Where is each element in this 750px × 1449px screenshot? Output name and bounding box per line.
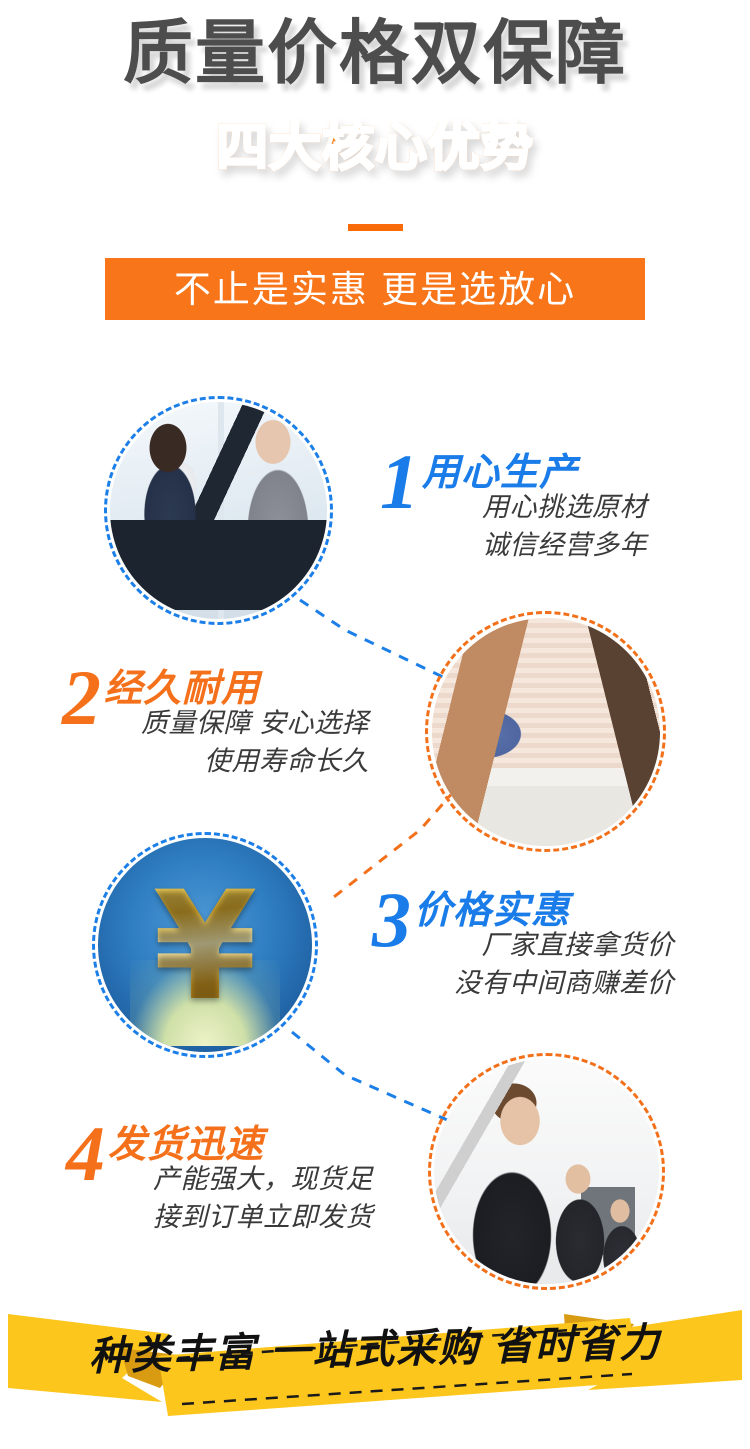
feature-3-line-2: 没有中间商赚差价 <box>426 964 674 1002</box>
feature-4-title: 发货迅速 <box>108 1126 264 1164</box>
feature-1-title: 用心生产 <box>422 454 578 492</box>
feature-1-number: 1 <box>380 450 416 514</box>
feature-3-ring <box>92 832 318 1058</box>
tagline-banner: 不止是实惠 更是选放心 <box>105 258 645 320</box>
page-title: 质量价格双保障 <box>0 18 750 88</box>
feature-1-line-2: 诚信经营多年 <box>432 526 647 564</box>
feature-1-lines: 用心挑选原材 诚信经营多年 <box>432 488 647 565</box>
orange-divider <box>348 224 403 231</box>
page-subtitle: 四大核心优势 <box>0 122 750 174</box>
feature-3-title: 价格实惠 <box>414 892 570 930</box>
feature-2-line-1: 质量保障 安心选择 <box>124 704 369 742</box>
feature-2-line-2: 使用寿命长久 <box>124 742 369 780</box>
feature-4-lines: 产能强大，现货足 接到订单立即发货 <box>128 1160 373 1237</box>
feature-3-text: 3 价格实惠 厂家直接拿货价 没有中间商赚差价 <box>372 888 674 1003</box>
feature-4-line-2: 接到订单立即发货 <box>128 1198 373 1236</box>
feature-3-lines: 厂家直接拿货价 没有中间商赚差价 <box>426 926 674 1003</box>
feature-2-title: 经久耐用 <box>104 670 260 708</box>
feature-2-number: 2 <box>62 666 98 730</box>
tagline-banner-text: 不止是实惠 更是选放心 <box>174 271 576 308</box>
feature-4-ring <box>428 1053 665 1290</box>
feature-2-text: 2 经久耐用 质量保障 安心选择 使用寿命长久 <box>62 666 369 781</box>
feature-4-number: 4 <box>66 1122 102 1186</box>
feature-3-number: 3 <box>372 888 408 952</box>
feature-2-ring <box>425 611 666 852</box>
promo-page: 质量价格双保障 四大核心优势 不止是实惠 更是选放心 1 用心生产 用心挑选原材… <box>0 0 750 1449</box>
feature-2-lines: 质量保障 安心选择 使用寿命长久 <box>124 704 369 781</box>
feature-1-ring <box>104 396 333 625</box>
feature-1-text: 1 用心生产 用心挑选原材 诚信经营多年 <box>380 450 647 565</box>
feature-4-line-1: 产能强大，现货足 <box>128 1160 373 1198</box>
feature-4-text: 4 发货迅速 产能强大，现货足 接到订单立即发货 <box>66 1122 373 1237</box>
